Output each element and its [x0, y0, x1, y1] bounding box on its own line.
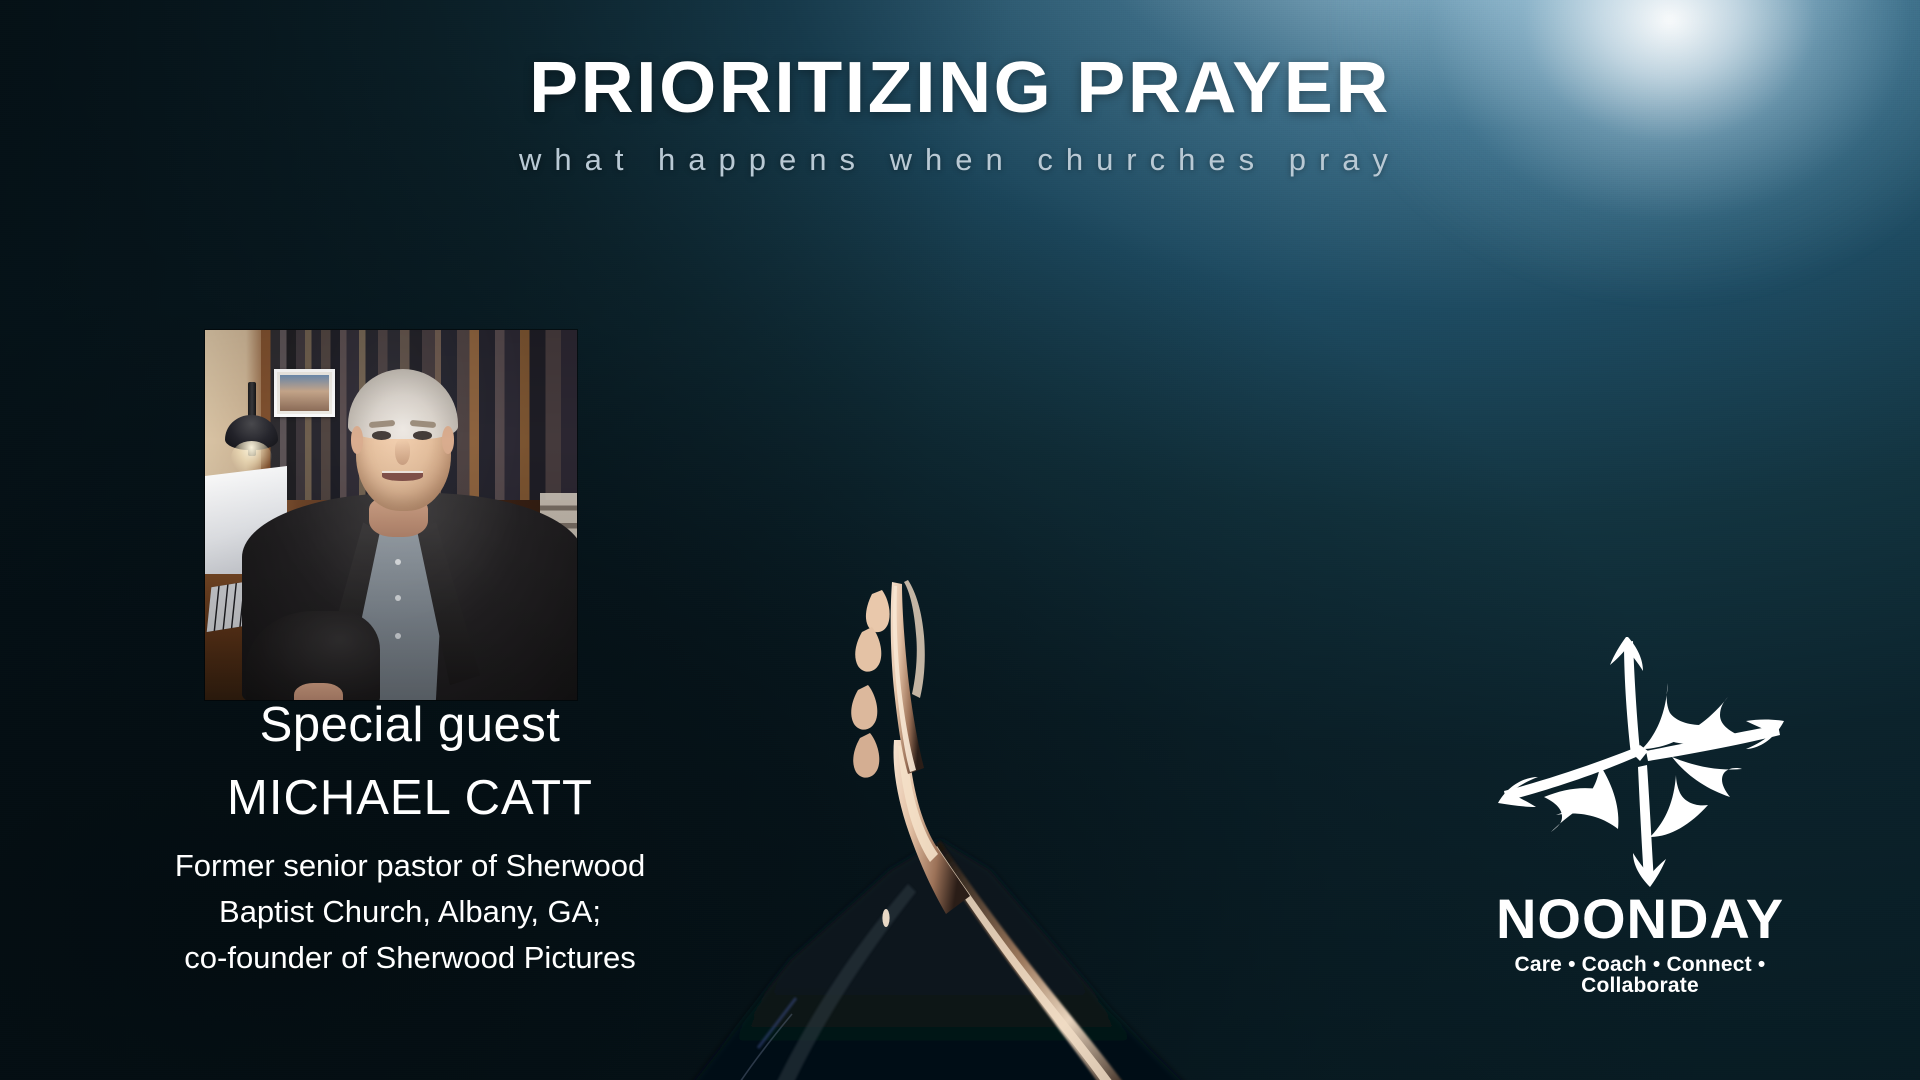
guest-photo-content: [205, 330, 577, 700]
photo-shading: [205, 330, 577, 700]
guest-description-line: Former senior pastor of Sherwood: [40, 843, 780, 889]
noonday-logo: NOONDAY Care • Coach • Connect • Collabo…: [1475, 625, 1805, 1010]
guest-description: Former senior pastor of Sherwood Baptist…: [40, 843, 780, 981]
guest-photo: [205, 330, 577, 700]
guest-description-line: co-founder of Sherwood Pictures: [40, 935, 780, 981]
slide-heading-group: PRIORITIZING PRAYER what happens when ch…: [0, 52, 1920, 178]
slide-canvas: PRIORITIZING PRAYER what happens when ch…: [0, 0, 1920, 1080]
guest-name: MICHAEL CATT: [40, 773, 780, 824]
guest-description-line: Baptist Church, Albany, GA;: [40, 889, 780, 935]
brand-tagline: Care • Coach • Connect • Collaborate: [1475, 954, 1805, 996]
page-title: PRIORITIZING PRAYER: [0, 52, 1920, 124]
page-subtitle: what happens when churches pray: [0, 142, 1920, 178]
four-point-star-compass-icon: [1490, 625, 1790, 895]
guest-info-group: Special guest MICHAEL CATT Former senior…: [40, 700, 780, 981]
brand-wordmark: NOONDAY: [1475, 891, 1805, 947]
guest-kicker: Special guest: [40, 700, 780, 751]
